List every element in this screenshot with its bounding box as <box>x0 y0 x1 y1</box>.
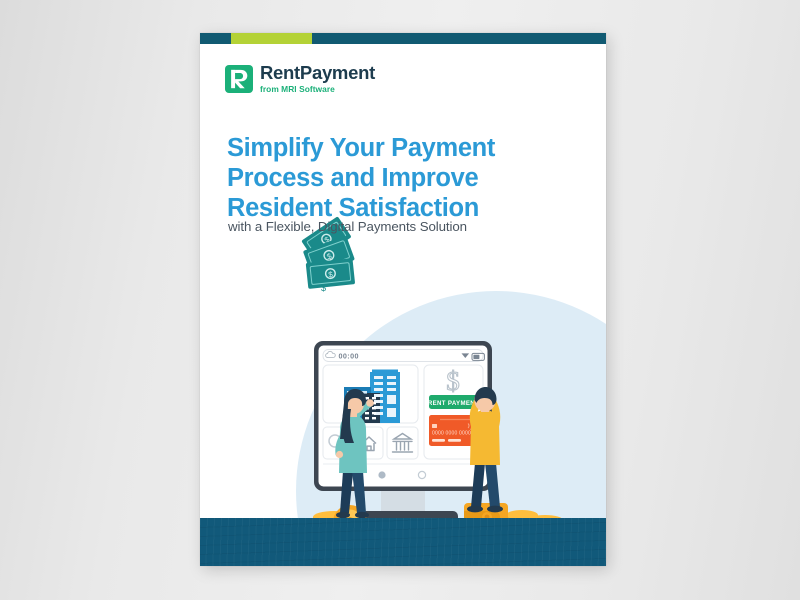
brand-name: RentPayment <box>260 64 375 83</box>
status-bar-time: 00:00 <box>339 351 359 360</box>
screen-status-bar: 00:00 <box>323 350 484 362</box>
brand-logo-text: RentPayment from MRI Software <box>260 64 375 94</box>
footer-band <box>200 518 606 566</box>
man-holding-payment-card <box>467 387 503 512</box>
brand-logo: RentPayment from MRI Software <box>225 64 375 94</box>
hero-illustration: $ $ $ $ <box>200 33 606 566</box>
dot-filled-icon[interactable] <box>378 471 385 478</box>
rent-payment-button-label: RENT PAYMENT <box>428 400 479 407</box>
svg-text:$: $ <box>446 366 460 396</box>
dollar-sign-icon: $ <box>446 366 460 396</box>
page-title: Simplify Your Payment Process and Improv… <box>227 133 547 224</box>
apartment-buildings-card[interactable] <box>323 365 418 423</box>
icon-tile-bank[interactable] <box>387 427 418 459</box>
brochure-cover-page: RentPayment from MRI Software Simplify Y… <box>200 33 606 566</box>
top-accent-bar <box>200 33 606 44</box>
top-accent-bar-highlight <box>231 33 312 44</box>
page-subtitle: with a Flexible, Digital Payments Soluti… <box>228 219 558 234</box>
rentpayment-r-mark-icon <box>225 65 253 93</box>
card-chip-icon <box>432 424 437 428</box>
svg-text:$: $ <box>321 283 326 293</box>
brand-tagline: from MRI Software <box>260 85 375 93</box>
